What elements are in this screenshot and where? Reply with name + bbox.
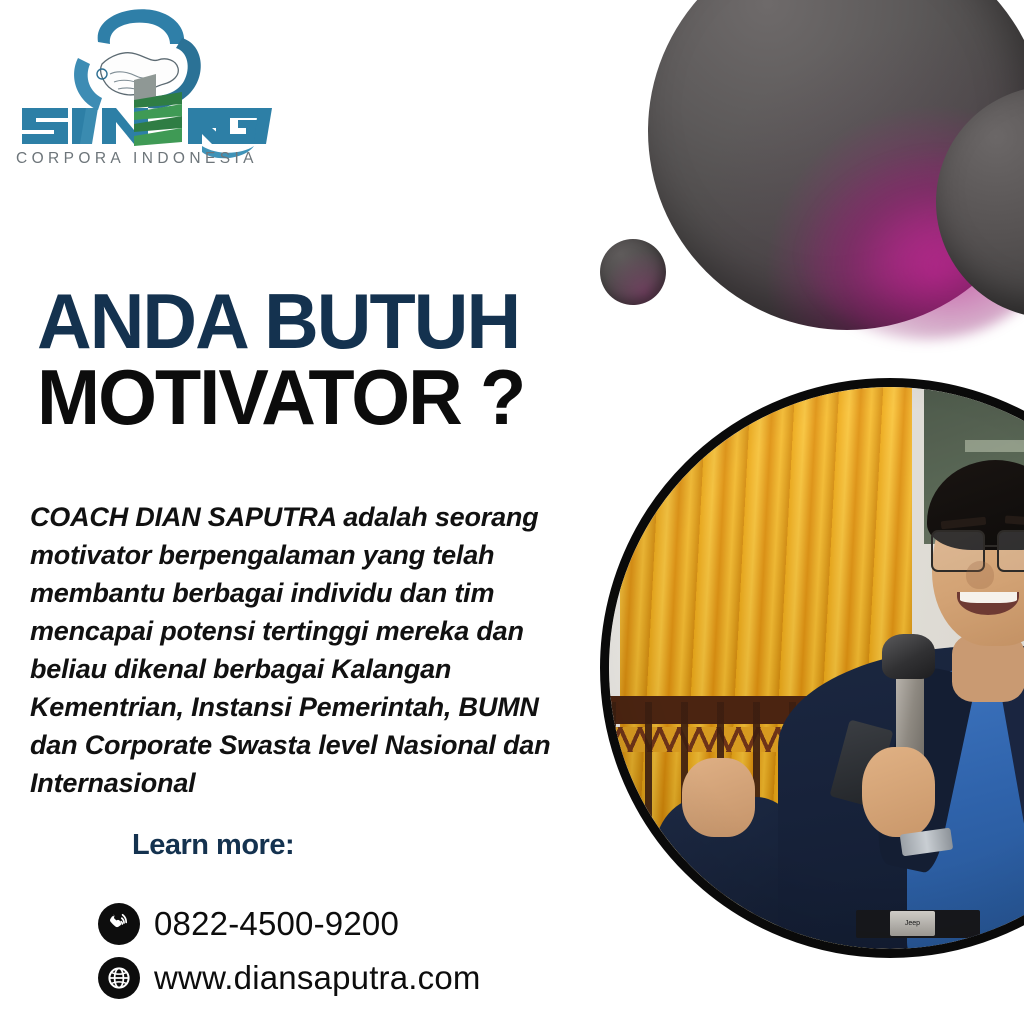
- photo-inner: Jeep: [609, 387, 1024, 949]
- photo-left-hand: [682, 758, 755, 837]
- speaker-photo: Jeep: [600, 378, 1024, 958]
- logo-tagline-text: CORPORA INDONESIA: [16, 150, 258, 167]
- photo-nose: [966, 561, 994, 589]
- website-url: www.diansaputra.com: [154, 959, 481, 997]
- phone-number: 0822-4500-9200: [154, 905, 399, 943]
- sphere-edge-icon: [936, 86, 1024, 318]
- body-paragraph: COACH DIAN SAPUTRA adalah seorang motiva…: [30, 498, 560, 802]
- headline-line-1: ANDA BUTUH: [37, 283, 697, 359]
- sphere-large-icon: [648, 0, 1024, 330]
- headline-line-2: MOTIVATOR ?: [37, 359, 697, 435]
- contact-list: 0822-4500-9200 www.diansaputra.com: [98, 897, 558, 1005]
- microphone-icon: [882, 634, 935, 679]
- contact-row-phone[interactable]: 0822-4500-9200: [98, 897, 558, 951]
- photo-belt-buckle: Jeep: [890, 911, 935, 936]
- globe-icon: [98, 957, 140, 999]
- contact-row-website[interactable]: www.diansaputra.com: [98, 951, 558, 1005]
- photo-right-hand: [862, 747, 935, 837]
- phone-icon: [98, 903, 140, 945]
- promo-poster: CORPORA INDONESIA ANDA BUTUH MOTIVATOR ?…: [0, 0, 1024, 1024]
- logo-wordmark: [22, 74, 272, 158]
- photo-person: Jeep: [609, 387, 1024, 949]
- brand-logo: CORPORA INDONESIA: [6, 4, 276, 168]
- learn-more-label: Learn more:: [132, 829, 294, 862]
- sphere-glow-icon: [800, 150, 1024, 340]
